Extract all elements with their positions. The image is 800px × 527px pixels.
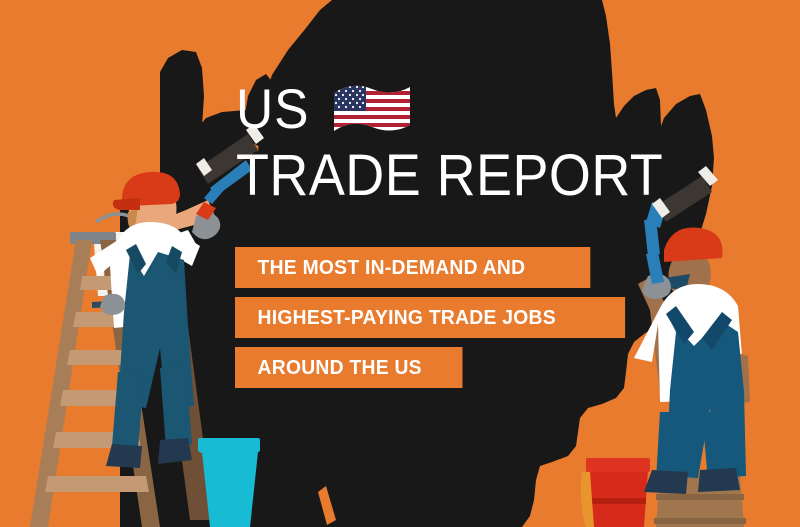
- title-trade-report: TRADE REPORT: [236, 146, 608, 206]
- poster-canvas: US: [0, 0, 800, 527]
- subtitle-bar-1: THE MOST IN-DEMAND AND: [235, 247, 590, 288]
- paint-bucket-red: [581, 458, 650, 527]
- headline-block: US: [236, 78, 636, 206]
- subtitle-bar-3: AROUND THE US: [235, 347, 462, 388]
- title-us: US: [236, 81, 309, 137]
- subtitle-bars: THE MOST IN-DEMAND AND HIGHEST-PAYING TR…: [235, 247, 650, 397]
- us-flag-icon: [332, 83, 412, 135]
- title-row: US: [236, 78, 636, 140]
- subtitle-bar-2: HIGHEST-PAYING TRADE JOBS: [235, 297, 625, 338]
